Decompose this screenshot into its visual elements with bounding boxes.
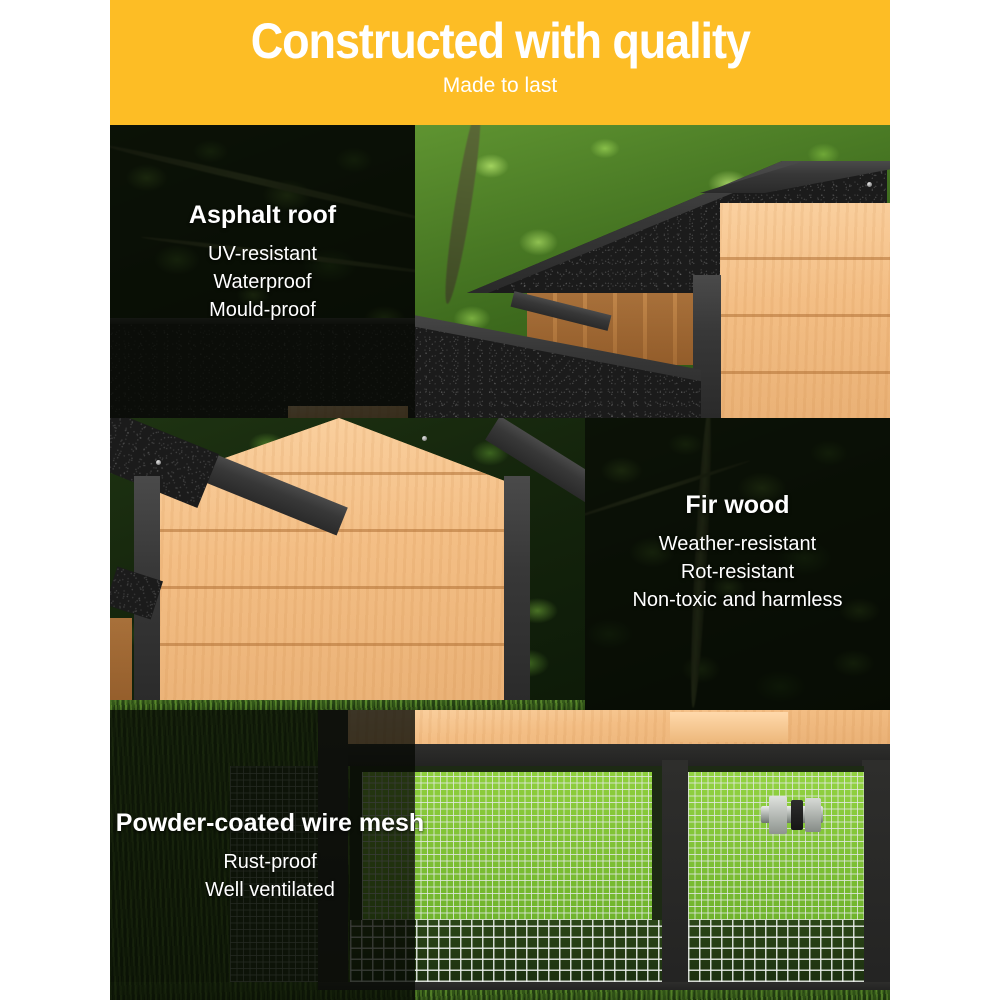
caption-title: Powder-coated wire mesh [110, 808, 430, 839]
asphalt-roof-surface [415, 303, 701, 418]
wood-panel [288, 406, 408, 418]
latch-catch [805, 798, 821, 832]
hutch-frame-right-post [862, 760, 890, 1000]
feature-row-wire-mesh: Powder-coated wire mesh Rust-proof Well … [110, 710, 890, 1000]
corner-post [504, 476, 530, 710]
fir-wood-wall [720, 203, 890, 418]
roof-plane-lower [415, 303, 701, 418]
photo-fir-wood-gable-panel [110, 418, 585, 710]
wood-plank-highlight [670, 712, 788, 742]
screw [867, 182, 872, 187]
door-latch[interactable] [761, 794, 823, 836]
caption-point: UV-resistant [120, 240, 405, 268]
latch-plate [769, 796, 787, 834]
latch-bolt [791, 800, 803, 830]
caption-point: Waterproof [120, 268, 405, 296]
door-panel [110, 618, 132, 710]
wire-mesh-coarse [350, 920, 662, 982]
header-banner: Constructed with quality Made to last [110, 0, 890, 125]
hutch-frame-top [348, 744, 890, 766]
asphalt-roof-surface [110, 320, 415, 418]
page-title: Constructed with quality [250, 13, 749, 69]
caption-title: Fir wood [580, 490, 890, 521]
caption-wire-mesh: Powder-coated wire mesh Rust-proof Well … [110, 808, 430, 904]
feature-row-fir-wood: Fir wood Weather-resistant Rot-resistant… [110, 418, 890, 710]
caption-point: Weather-resistant [580, 530, 890, 558]
infographic-page: Constructed with quality Made to last [0, 0, 1000, 1000]
caption-point: Rust-proof [110, 848, 430, 876]
caption-point: Non-toxic and harmless [580, 586, 890, 614]
photo-asphalt-shingle-roof-closeup [415, 125, 890, 418]
caption-point: Mould-proof [120, 296, 405, 324]
caption-title: Asphalt roof [120, 200, 405, 231]
caption-point: Rot-resistant [580, 558, 890, 586]
hutch-frame-bottom [318, 982, 890, 990]
caption-fir-wood: Fir wood Weather-resistant Rot-resistant… [580, 490, 890, 614]
grass-strip [110, 700, 585, 710]
caption-asphalt-roof: Asphalt roof UV-resistant Waterproof Mou… [120, 200, 405, 324]
wire-mesh-coarse [688, 920, 864, 982]
screw [422, 436, 427, 441]
feature-photo-grid: Asphalt roof UV-resistant Waterproof Mou… [110, 125, 890, 1000]
fir-wood-top-rail [348, 710, 890, 744]
caption-point: Well ventilated [110, 876, 430, 904]
feature-row-asphalt-roof: Asphalt roof UV-resistant Waterproof Mou… [110, 125, 890, 418]
screw [156, 460, 161, 465]
page-subtitle: Made to last [443, 73, 557, 99]
hutch-frame-center-post [662, 760, 688, 1000]
